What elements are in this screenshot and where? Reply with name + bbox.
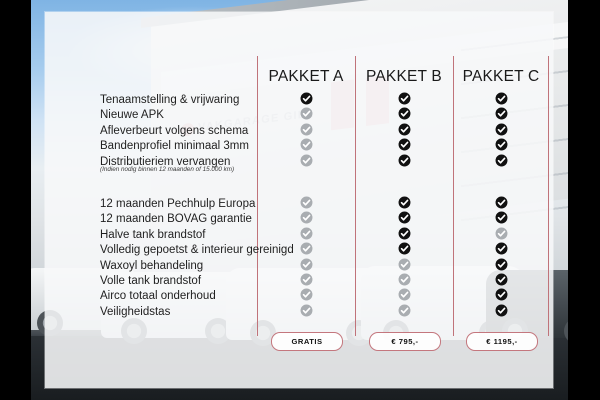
check-excluded-icon bbox=[398, 258, 411, 271]
feature-label: Nieuwe APK bbox=[100, 109, 164, 121]
check-excluded-icon bbox=[398, 304, 411, 317]
feature-label: Waxoyl behandeling bbox=[100, 260, 203, 272]
feature-label: 12 maanden Pechhulp Europa bbox=[100, 198, 255, 210]
check-included-icon bbox=[398, 154, 411, 167]
check-included-icon bbox=[495, 211, 508, 224]
feature-label: Airco totaal onderhoud bbox=[100, 290, 216, 302]
check-excluded-icon bbox=[300, 211, 313, 224]
screenshot-stage: VAKGARAGE GIEL PAKKET APAKKET BPAKKET CT… bbox=[0, 0, 600, 400]
package-table: PAKKET APAKKET BPAKKET CTenaamstelling &… bbox=[45, 12, 553, 388]
check-included-icon bbox=[398, 107, 411, 120]
check-included-icon bbox=[398, 138, 411, 151]
check-excluded-icon bbox=[300, 154, 313, 167]
column-header-b: PAKKET B bbox=[349, 64, 459, 90]
check-excluded-icon bbox=[300, 138, 313, 151]
check-included-icon bbox=[495, 138, 508, 151]
letterbox-bar-right bbox=[568, 0, 600, 400]
check-included-icon bbox=[495, 196, 508, 209]
check-included-icon bbox=[495, 258, 508, 271]
price-button-a[interactable]: GRATIS bbox=[271, 332, 343, 351]
feature-note: (Indien nodig binnen 12 maanden of 15.00… bbox=[100, 166, 234, 174]
check-excluded-icon bbox=[300, 288, 313, 301]
check-excluded-icon bbox=[300, 242, 313, 255]
check-excluded-icon bbox=[495, 227, 508, 240]
column-divider-2 bbox=[355, 56, 356, 336]
column-divider-1 bbox=[257, 56, 258, 336]
check-excluded-icon bbox=[300, 304, 313, 317]
check-included-icon bbox=[495, 123, 508, 136]
check-included-icon bbox=[495, 273, 508, 286]
price-button-c[interactable]: € 1195,- bbox=[466, 332, 538, 351]
feature-label: Volledig gepoetst & interieur gereinigd bbox=[100, 244, 294, 256]
price-button-b[interactable]: € 795,- bbox=[369, 332, 441, 351]
check-included-icon bbox=[495, 154, 508, 167]
feature-label: Afleverbeurt volgens schema bbox=[100, 125, 248, 137]
letterbox-bar-left bbox=[0, 0, 31, 400]
check-included-icon bbox=[398, 123, 411, 136]
check-excluded-icon bbox=[398, 273, 411, 286]
check-excluded-icon bbox=[300, 107, 313, 120]
column-divider-3 bbox=[453, 56, 454, 336]
check-included-icon bbox=[495, 304, 508, 317]
column-header-a: PAKKET A bbox=[251, 64, 361, 90]
feature-label: Bandenprofiel minimaal 3mm bbox=[100, 140, 249, 152]
check-included-icon bbox=[398, 242, 411, 255]
feature-label: 12 maanden BOVAG garantie bbox=[100, 213, 252, 225]
check-excluded-icon bbox=[300, 273, 313, 286]
package-comparison-card: PAKKET APAKKET BPAKKET CTenaamstelling &… bbox=[45, 12, 553, 388]
check-included-icon bbox=[398, 196, 411, 209]
column-header-c: PAKKET C bbox=[446, 64, 556, 90]
check-included-icon bbox=[495, 107, 508, 120]
feature-label: Halve tank brandstof bbox=[100, 229, 205, 241]
check-excluded-icon bbox=[300, 258, 313, 271]
check-included-icon bbox=[495, 242, 508, 255]
column-divider-4 bbox=[548, 56, 549, 336]
feature-label: Tenaamstelling & vrijwaring bbox=[100, 94, 239, 106]
check-excluded-icon bbox=[300, 123, 313, 136]
check-included-icon bbox=[398, 211, 411, 224]
feature-label: Veiligheidstas bbox=[100, 306, 170, 318]
check-included-icon bbox=[398, 227, 411, 240]
feature-label: Volle tank brandstof bbox=[100, 275, 201, 287]
check-included-icon bbox=[495, 288, 508, 301]
check-excluded-icon bbox=[398, 288, 411, 301]
check-excluded-icon bbox=[300, 196, 313, 209]
check-excluded-icon bbox=[300, 227, 313, 240]
check-included-icon bbox=[495, 92, 508, 105]
check-included-icon bbox=[300, 92, 313, 105]
check-included-icon bbox=[398, 92, 411, 105]
